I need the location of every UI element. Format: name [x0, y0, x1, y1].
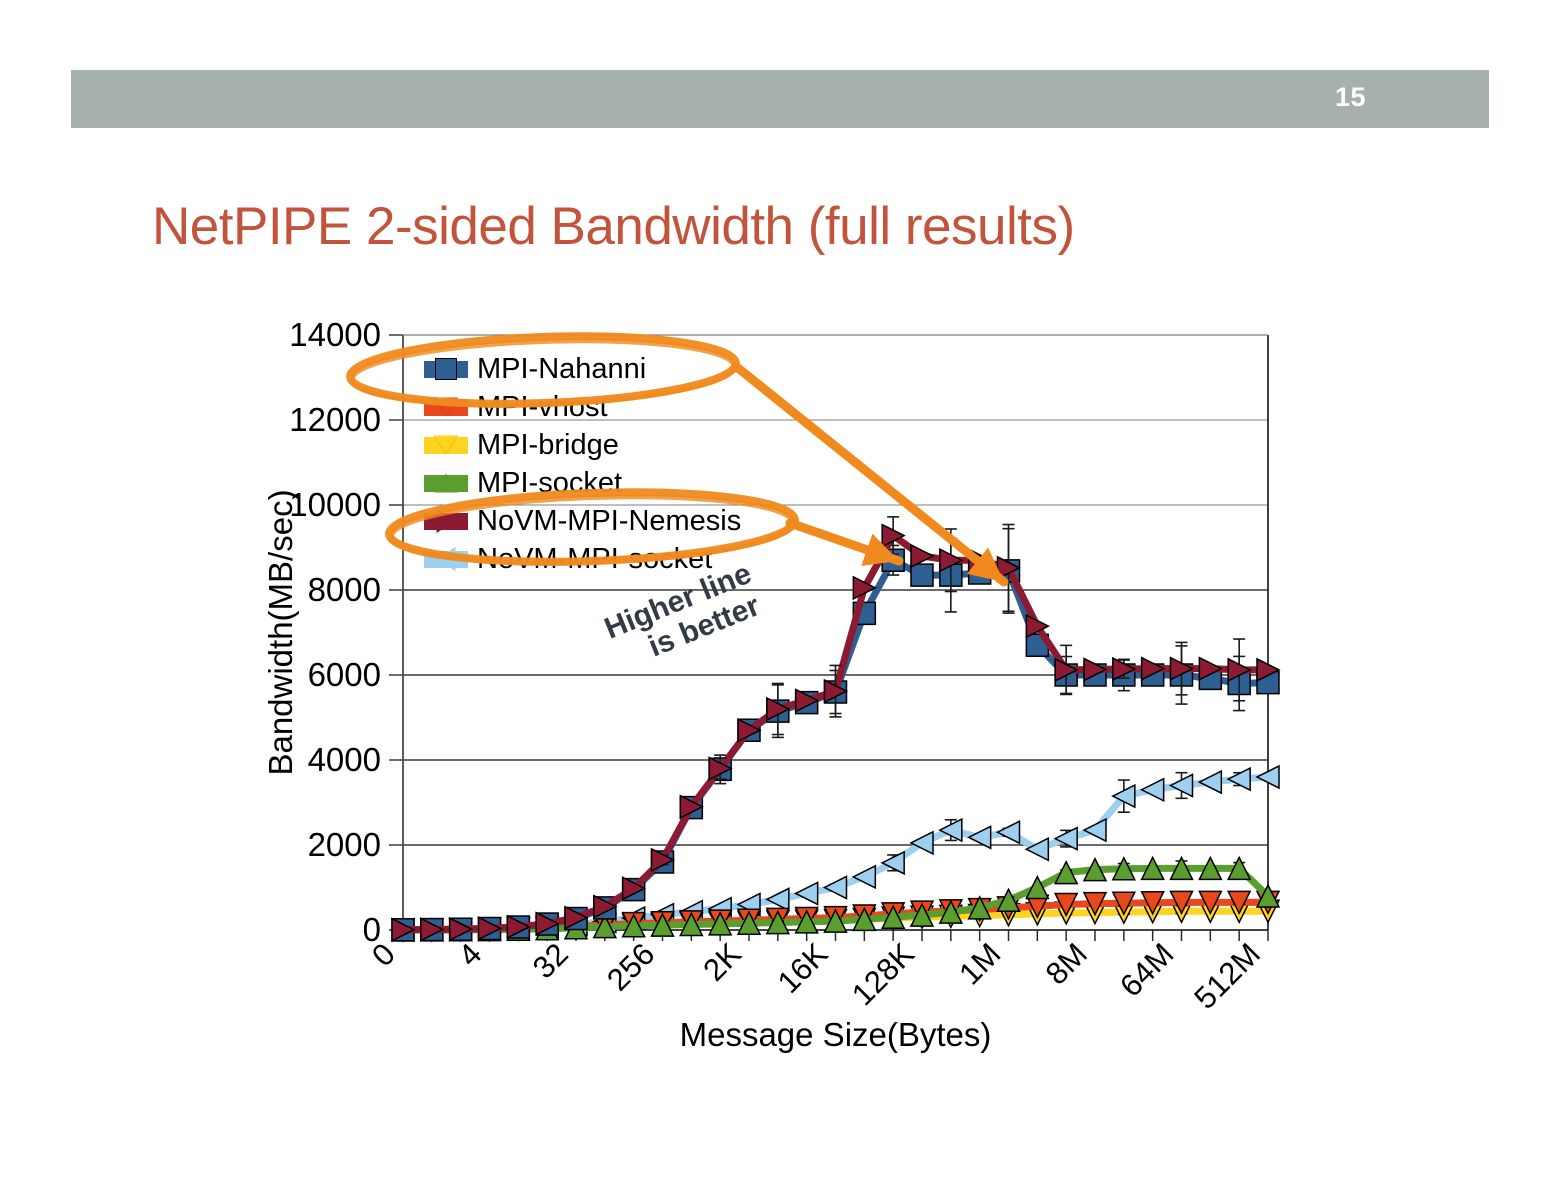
- legend-swatch-mpi-vhost-icon: [424, 399, 468, 416]
- x-tick-label: 1M: [952, 936, 1007, 991]
- legend-marker-icon: [437, 509, 456, 533]
- x-tick-label: 8M: [1039, 936, 1094, 991]
- legend-label: NoVM-MPI-Nemesis: [477, 505, 741, 538]
- data-point-marker: [796, 882, 818, 904]
- x-tick-label: 64M: [1113, 936, 1180, 1003]
- data-point-marker: [1199, 771, 1221, 793]
- y-axis-title: Bandwidth(MB/sec): [262, 489, 299, 775]
- y-tick-label: 12000: [289, 401, 381, 438]
- y-tick-label: 6000: [308, 656, 381, 693]
- legend-item-novm-mpi-nemesis[interactable]: NoVM-MPI-Nemesis: [424, 502, 741, 540]
- legend-marker-icon: [434, 474, 458, 493]
- x-axis-title: Message Size(Bytes): [680, 1016, 992, 1053]
- y-tick-label: 4000: [308, 741, 381, 778]
- x-tick-label: 512M: [1187, 936, 1267, 1016]
- legend-label: MPI-socket: [477, 467, 622, 500]
- x-tick-label: 4: [452, 936, 489, 973]
- data-point-marker: [911, 564, 933, 586]
- y-tick-label: 10000: [289, 486, 381, 523]
- legend-item-mpi-nahanni[interactable]: MPI-Nahanni: [424, 350, 741, 388]
- x-tick-label: 2K: [696, 936, 748, 988]
- x-tick-label: 128K: [845, 936, 921, 1012]
- data-point-marker: [1084, 819, 1106, 841]
- data-point-marker: [1142, 779, 1164, 801]
- x-tick-label: 32: [526, 936, 575, 985]
- legend-label: MPI-vhost: [477, 391, 608, 424]
- data-point-marker: [767, 888, 789, 910]
- legend-swatch-mpi-socket-icon: [424, 475, 468, 492]
- chart-plot: 0200040006000800010000120001400004322562…: [0, 0, 1552, 1199]
- x-tick-label: 16K: [771, 936, 835, 1000]
- y-tick-label: 2000: [308, 826, 381, 863]
- legend-marker-icon: [434, 436, 458, 455]
- x-tick-label: 256: [600, 936, 661, 997]
- legend-label: MPI-Nahanni: [477, 353, 646, 386]
- chart-canvas: 0200040006000800010000120001400004322562…: [0, 0, 1552, 1199]
- legend-swatch-mpi-bridge-icon: [424, 437, 468, 454]
- legend-swatch-novm-mpi-socket-icon: [424, 551, 468, 568]
- x-tick-label: 0: [365, 936, 402, 973]
- legend-label: MPI-bridge: [477, 429, 619, 462]
- chart-legend: MPI-NahanniMPI-vhostMPI-bridgeMPI-socket…: [424, 350, 741, 578]
- legend-item-mpi-socket[interactable]: MPI-socket: [424, 464, 741, 502]
- data-point-marker: [998, 821, 1020, 843]
- data-point-marker: [1228, 768, 1250, 790]
- data-point-marker: [853, 866, 875, 888]
- legend-item-mpi-bridge[interactable]: MPI-bridge: [424, 426, 741, 464]
- y-tick-label: 8000: [308, 571, 381, 608]
- legend-swatch-novm-mpi-nemesis-icon: [424, 513, 468, 530]
- legend-label: NoVM-MPI-socket: [477, 543, 712, 576]
- legend-item-mpi-vhost[interactable]: MPI-vhost: [424, 388, 741, 426]
- data-point-marker: [825, 877, 847, 899]
- legend-swatch-mpi-nahanni-icon: [424, 361, 468, 378]
- legend-marker-icon: [437, 547, 456, 571]
- legend-item-novm-mpi-socket[interactable]: NoVM-MPI-socket: [424, 540, 741, 578]
- legend-marker-icon: [435, 358, 457, 380]
- y-tick-label: 14000: [289, 316, 381, 353]
- legend-marker-icon: [434, 398, 458, 417]
- slide-root: 15 NetPIPE 2-sided Bandwidth (full resul…: [0, 0, 1552, 1199]
